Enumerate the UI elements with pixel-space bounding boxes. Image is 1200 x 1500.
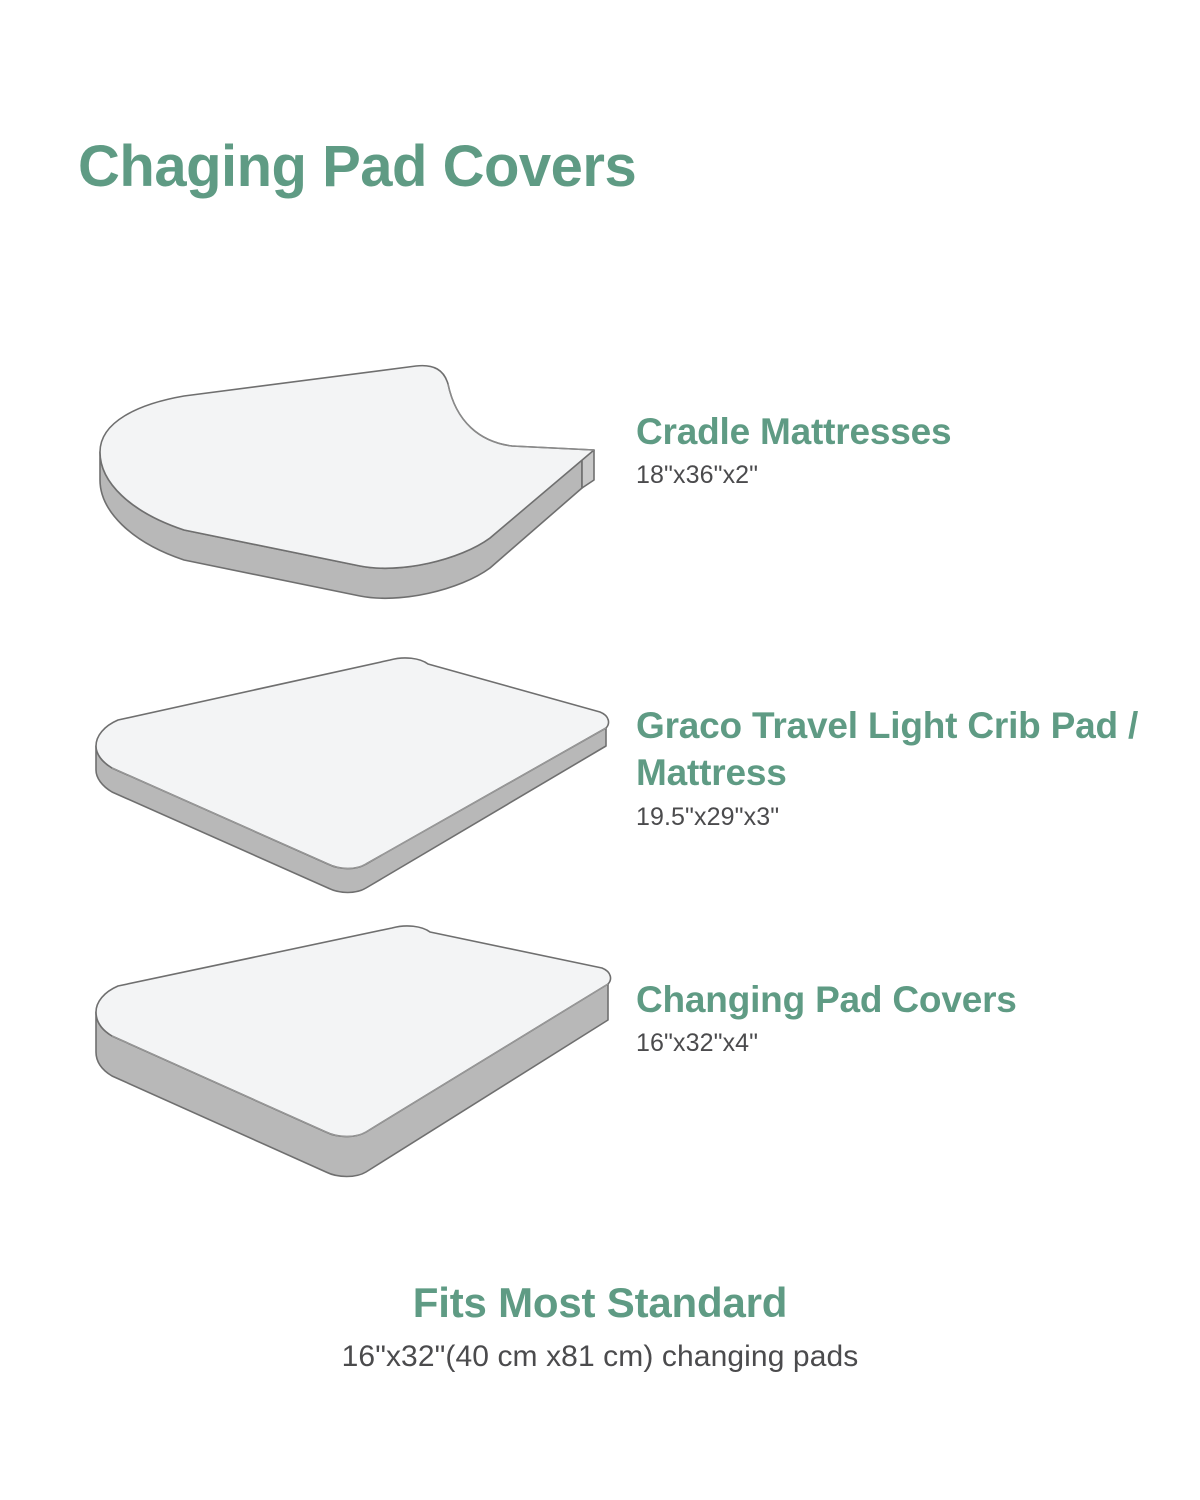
product-row: Changing Pad Covers 16"x32"x4" [0,920,1200,1210]
flat-mattress-icon [60,650,620,910]
product-illustration [60,920,620,1190]
product-name: Cradle Mattresses [636,408,1176,455]
product-dimensions: 19.5"x29"x3" [636,801,1176,834]
mattress-top-face [96,658,608,869]
product-illustration [60,650,620,910]
infographic-page: Chaging Pad Covers Cradle Mattresses 18"… [0,0,1200,1500]
product-info: Cradle Mattresses 18"x36"x2" [636,408,1176,492]
product-name: Graco Travel Light Crib Pad / Mattress [636,702,1176,797]
thick-mattress-icon [60,920,620,1190]
page-title: Chaging Pad Covers [78,135,636,200]
product-dimensions: 16"x32"x4" [636,1027,1176,1060]
product-info: Changing Pad Covers 16"x32"x4" [636,976,1176,1060]
contoured-changing-pad-icon [60,360,620,600]
product-dimensions: 18"x36"x2" [636,459,1176,492]
product-info: Graco Travel Light Crib Pad / Mattress 1… [636,702,1176,833]
footer: Fits Most Standard 16"x32"(40 cm x81 cm)… [0,1278,1200,1376]
footer-headline: Fits Most Standard [0,1278,1200,1328]
footer-subtext: 16"x32"(40 cm x81 cm) changing pads [0,1338,1200,1376]
product-row: Graco Travel Light Crib Pad / Mattress 1… [0,650,1200,920]
product-illustration [60,360,620,600]
product-name: Changing Pad Covers [636,976,1176,1023]
product-row: Cradle Mattresses 18"x36"x2" [0,360,1200,600]
